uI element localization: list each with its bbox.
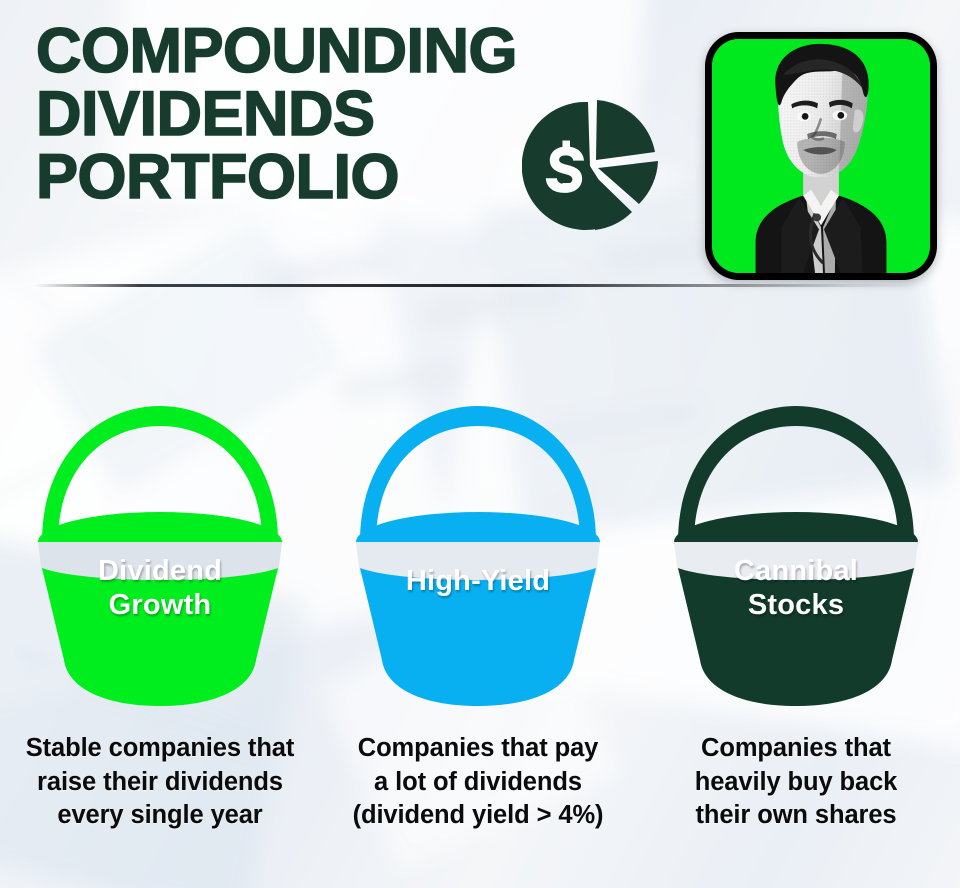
caption-dividend-growth: Stable companies that raise their divide… — [6, 732, 314, 833]
author-portrait-photo — [712, 39, 930, 273]
bucket-high-yield[interactable]: High-Yield — [338, 392, 618, 722]
header-divider — [34, 284, 914, 287]
caption-line: their own shares — [642, 799, 950, 833]
caption-line: a lot of dividends — [324, 766, 632, 800]
author-avatar[interactable] — [705, 32, 937, 280]
caption-line: raise their dividends — [6, 766, 314, 800]
bucket-column-high-yield: High-Yield Companies that pay a lot of d… — [318, 300, 638, 888]
bucket-column-cannibal-stocks: Cannibal Stocks Companies that heavily b… — [636, 300, 956, 888]
caption-line: Companies that pay — [324, 732, 632, 766]
title-line-1: COMPOUNDING — [36, 20, 696, 83]
caption-line: every single year — [6, 799, 314, 833]
infographic-canvas: COMPOUNDING DIVIDENDS PORTFOLIO — [0, 0, 960, 888]
bucket-cannibal-stocks[interactable]: Cannibal Stocks — [656, 392, 936, 722]
caption-cannibal-stocks: Companies that heavily buy back their ow… — [642, 732, 950, 833]
caption-line: Stable companies that — [6, 732, 314, 766]
buckets-section: Dividend Growth Stable companies that ra… — [0, 300, 960, 888]
caption-line: heavily buy back — [642, 766, 950, 800]
dollar-pie-chart-icon — [522, 100, 692, 232]
bucket-dividend-growth[interactable]: Dividend Growth — [20, 392, 300, 722]
bucket-icon — [656, 392, 936, 722]
header: COMPOUNDING DIVIDENDS PORTFOLIO — [0, 0, 960, 300]
caption-line: Companies that — [642, 732, 950, 766]
avatar-inner — [712, 39, 930, 273]
bucket-column-dividend-growth: Dividend Growth Stable companies that ra… — [0, 300, 320, 888]
bucket-icon — [20, 392, 300, 722]
caption-line: (dividend yield > 4%) — [324, 799, 632, 833]
caption-high-yield: Companies that pay a lot of dividends (d… — [324, 732, 632, 833]
bucket-icon — [338, 392, 618, 722]
